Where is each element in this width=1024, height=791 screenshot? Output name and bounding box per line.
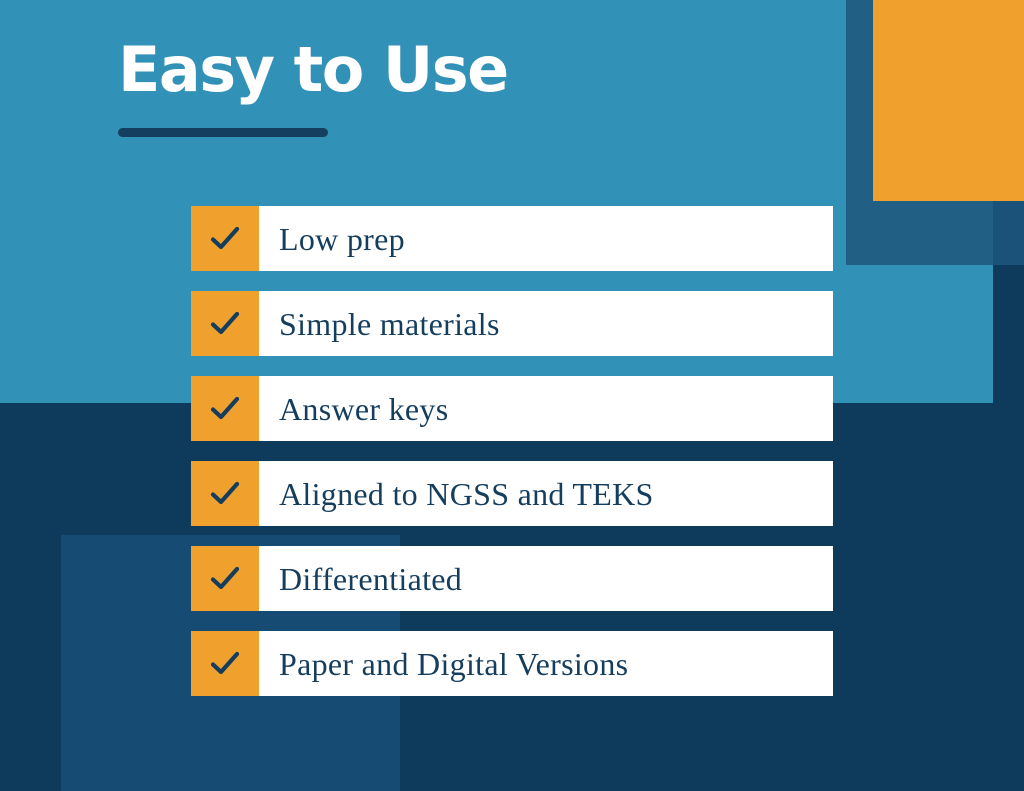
slide-canvas: Easy to Use Low prep Simple materials [0,0,1024,791]
checkmark-icon-box [191,631,259,696]
list-item: Paper and Digital Versions [191,631,833,696]
checkmark-icon [208,307,242,341]
checkmark-icon-box [191,291,259,356]
checkmark-icon [208,647,242,681]
page-title: Easy to Use [118,34,818,106]
list-item-label: Paper and Digital Versions [259,631,833,696]
list-item-label: Aligned to NGSS and TEKS [259,461,833,526]
feature-checklist: Low prep Simple materials Answer keys [191,206,833,696]
checkmark-icon [208,477,242,511]
list-item-label: Low prep [259,206,833,271]
list-item: Aligned to NGSS and TEKS [191,461,833,526]
list-item: Answer keys [191,376,833,441]
checkmark-icon-box [191,206,259,271]
title-underline-rule [118,128,328,137]
list-item: Low prep [191,206,833,271]
checkmark-icon [208,392,242,426]
list-item-label: Differentiated [259,546,833,611]
checkmark-icon-box [191,461,259,526]
list-item: Simple materials [191,291,833,356]
checkmark-icon [208,222,242,256]
background-teal-panel-right [846,265,993,403]
header: Easy to Use [118,34,818,137]
list-item-label: Answer keys [259,376,833,441]
list-item: Differentiated [191,546,833,611]
list-item-label: Simple materials [259,291,833,356]
checkmark-icon-box [191,376,259,441]
checkmark-icon [208,562,242,596]
background-orange-square [873,0,1024,201]
checkmark-icon-box [191,546,259,611]
